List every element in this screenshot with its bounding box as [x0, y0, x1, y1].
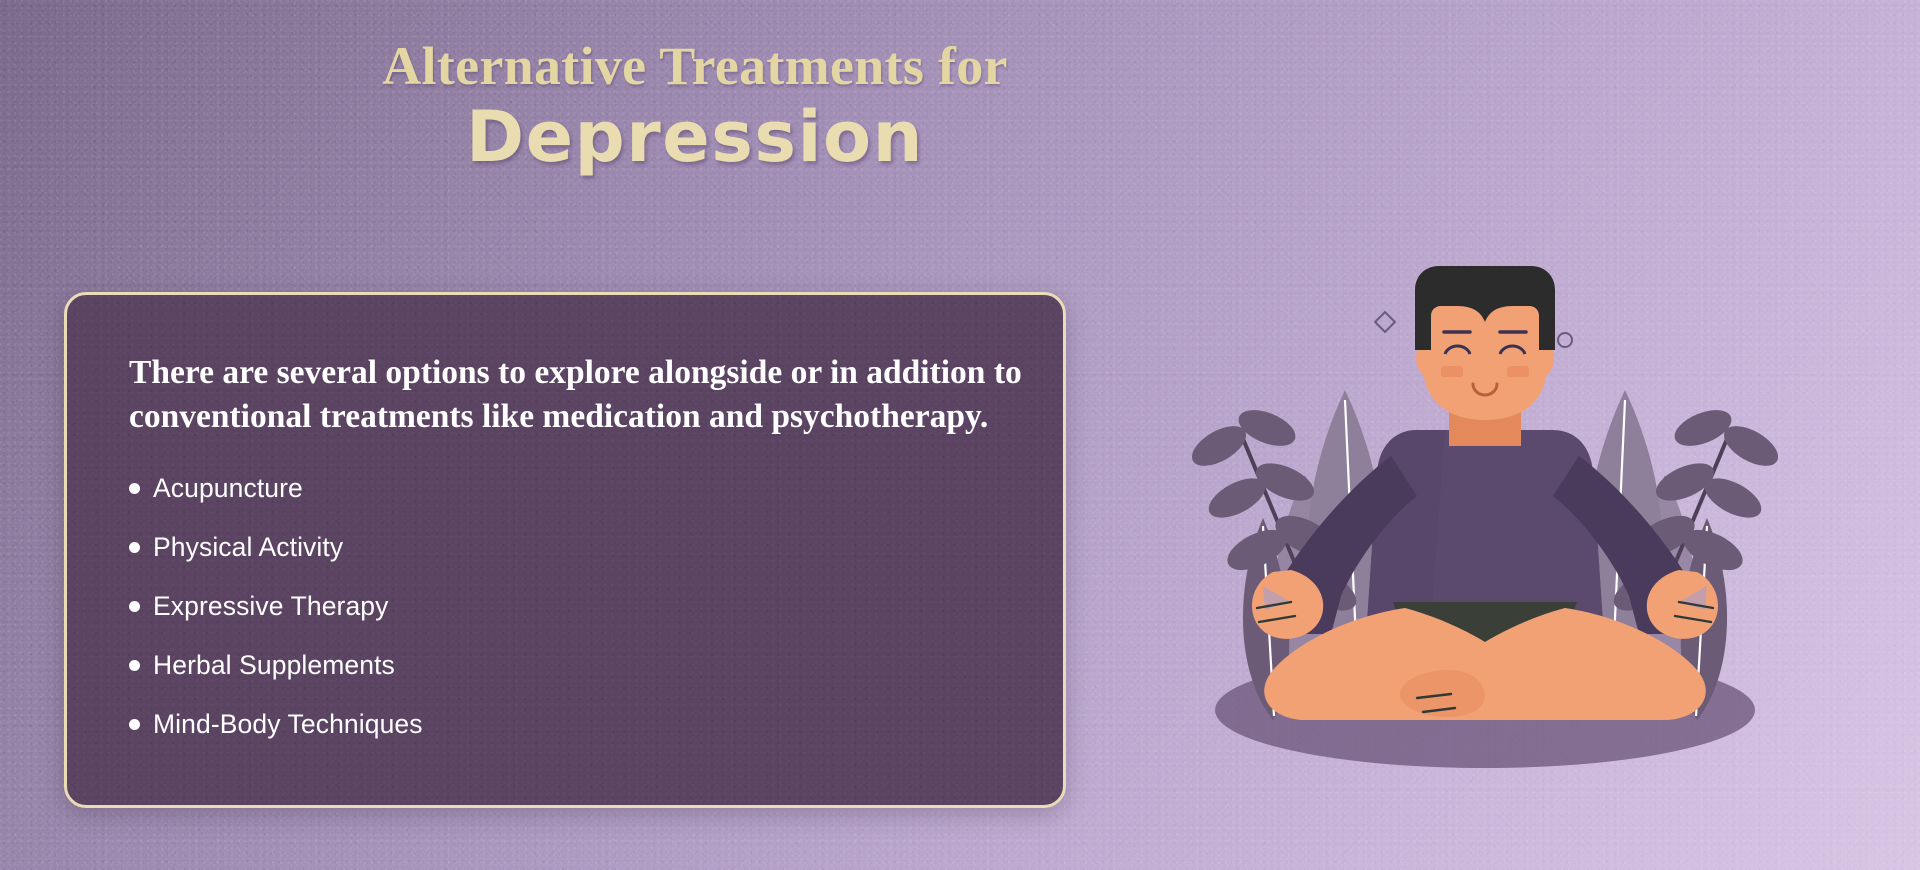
page-title: Alternative Treatments for Depression	[0, 38, 1390, 174]
list-item-label: Mind-Body Techniques	[153, 709, 423, 740]
bullet-dot-icon	[129, 483, 140, 494]
bullet-dot-icon	[129, 542, 140, 553]
meditation-illustration	[1145, 250, 1825, 810]
list-item: Expressive Therapy	[129, 591, 1023, 622]
list-item-label: Expressive Therapy	[153, 591, 389, 622]
content-card: There are several options to explore alo…	[64, 292, 1066, 808]
list-item-label: Herbal Supplements	[153, 650, 395, 681]
title-line-secondary: Depression	[0, 101, 1390, 175]
bullet-dot-icon	[129, 719, 140, 730]
card-body: There are several options to explore alo…	[67, 295, 1063, 740]
list-item: Acupuncture	[129, 473, 1023, 504]
card-heading: There are several options to explore alo…	[129, 351, 1023, 439]
list-item: Herbal Supplements	[129, 650, 1023, 681]
bullet-dot-icon	[129, 660, 140, 671]
infographic-canvas: Alternative Treatments for Depression Th…	[0, 0, 1920, 870]
bullet-dot-icon	[129, 601, 140, 612]
list-item-label: Acupuncture	[153, 473, 303, 504]
diamond-icon	[1375, 312, 1395, 332]
blush-left	[1441, 366, 1463, 377]
list-item-label: Physical Activity	[153, 532, 343, 563]
person-head	[1415, 266, 1555, 446]
treatment-list: Acupuncture Physical Activity Expressive…	[129, 473, 1023, 740]
list-item: Physical Activity	[129, 532, 1023, 563]
meditation-illustration-svg	[1145, 250, 1825, 810]
title-line-primary: Alternative Treatments for	[0, 38, 1390, 95]
circle-icon	[1558, 333, 1572, 347]
list-item: Mind-Body Techniques	[129, 709, 1023, 740]
blush-right	[1507, 366, 1529, 377]
